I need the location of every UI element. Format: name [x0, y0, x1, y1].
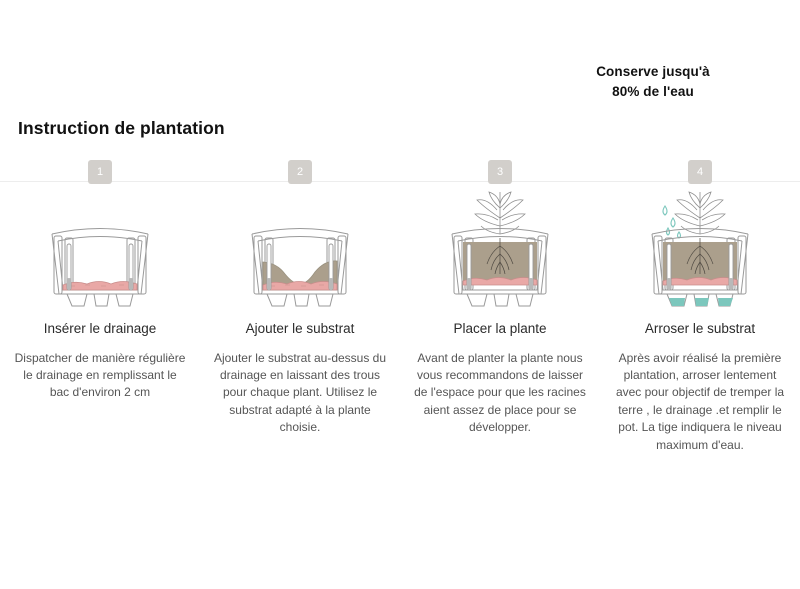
step-number-badge-2: 2 [288, 160, 312, 184]
step-number-badge-4: 4 [688, 160, 712, 184]
step-body-1: Dispatcher de manière régulière le drain… [12, 350, 188, 402]
step-illustration-3-art [435, 198, 565, 308]
step-title-2: Ajouter le substrat [246, 320, 355, 338]
pot-with-drainage-icon [35, 222, 165, 308]
step-illustration-2 [235, 198, 365, 308]
step-title-3: Placer la plante [453, 320, 546, 338]
pot-with-substrate-icon [235, 222, 365, 308]
page-title: Instruction de plantation [18, 118, 225, 139]
plant-foliage [675, 192, 725, 234]
step-body-3: Avant de planter la plante nous vous rec… [412, 350, 588, 437]
water-droplets [663, 206, 681, 238]
step-4: 4 [600, 160, 800, 454]
instruction-steps: 1 [0, 160, 800, 454]
water-conservation-claim: Conserve jusqu'à 80% de l'eau [538, 62, 768, 101]
step-3: 3 [400, 160, 600, 454]
step-title-1: Insérer le drainage [44, 320, 157, 338]
water-claim-line-2: 80% de l'eau [538, 82, 768, 102]
water-reservoir [669, 298, 733, 306]
step-illustration-4 [635, 198, 765, 308]
step-body-4: Après avoir réalisé la première plantati… [612, 350, 788, 454]
step-1: 1 [0, 160, 200, 454]
step-2: 2 [200, 160, 400, 454]
step-title-4: Arroser le substrat [645, 320, 755, 338]
pot-watering-icon [635, 188, 765, 308]
pot-with-plant-icon [435, 188, 565, 308]
step-number-badge-1: 1 [88, 160, 112, 184]
drainage-layer [663, 278, 737, 286]
plant-foliage [475, 192, 525, 234]
step-number-badge-3: 3 [488, 160, 512, 184]
water-claim-line-1: Conserve jusqu'à [538, 62, 768, 82]
drainage-layer [463, 278, 537, 286]
step-body-2: Ajouter le substrat au-dessus du drainag… [212, 350, 388, 437]
step-illustration-1 [35, 198, 165, 308]
